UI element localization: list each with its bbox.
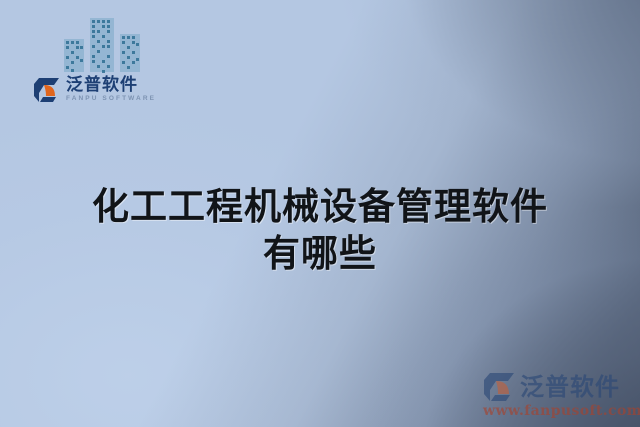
watermark-name-cn: 泛普软件	[520, 375, 620, 399]
watermark: 泛普软件 www.fanpusoft.com	[483, 372, 635, 419]
page-title: 化工工程机械设备管理软件 有哪些	[0, 183, 640, 277]
watermark-url: www.fanpusoft.com	[483, 403, 635, 419]
pixel-city-skyline-icon	[62, 12, 144, 74]
page-title-line-2: 有哪些	[0, 230, 640, 277]
brand-name-cn: 泛普软件	[66, 77, 156, 94]
watermark-logo-row: 泛普软件	[483, 372, 635, 402]
promo-card: 泛普软件 FANPU SOFTWARE 化工工程机械设备管理软件 有哪些 泛普软…	[0, 0, 640, 427]
brand-text-block: 泛普软件 FANPU SOFTWARE	[66, 77, 156, 103]
page-title-line-1: 化工工程机械设备管理软件	[0, 183, 640, 230]
brand-name-en: FANPU SOFTWARE	[66, 96, 156, 103]
brand-logo: 泛普软件 FANPU SOFTWARE	[33, 77, 156, 103]
fanpu-hexagon-swoosh-icon	[33, 77, 60, 103]
fanpu-hexagon-swoosh-icon	[483, 372, 515, 402]
